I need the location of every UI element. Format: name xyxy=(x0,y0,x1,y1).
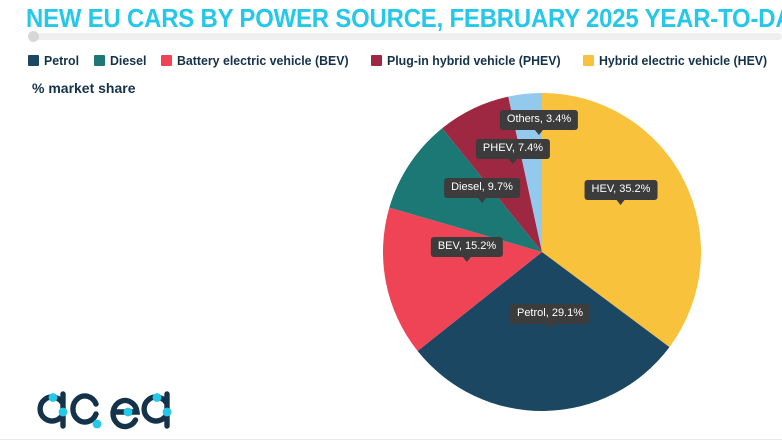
pie-chart: HEV, 35.2% Petrol, 29.1% BEV, 15.2% Dies… xyxy=(382,92,702,412)
legend-label-phev: Plug-in hybrid vehicle (PHEV) xyxy=(387,53,561,68)
acea-logo-svg xyxy=(33,382,183,434)
legend-swatch-diesel xyxy=(94,55,105,66)
legend-item-petrol[interactable]: Petrol xyxy=(28,53,81,68)
legend-swatch-petrol xyxy=(28,55,39,66)
pie-label-petrol: Petrol, 29.1% xyxy=(510,304,590,324)
pie-label-bev: BEV, 15.2% xyxy=(431,237,503,257)
pie-label-diesel: Diesel, 9.7% xyxy=(444,178,520,198)
legend-item-diesel[interactable]: Diesel xyxy=(94,53,148,68)
legend-item-hev[interactable]: Hybrid electric vehicle (HEV) xyxy=(583,53,776,68)
pie-label-phev: PHEV, 7.4% xyxy=(476,139,550,159)
chart-legend: Petrol Diesel Battery electric vehicle (… xyxy=(28,53,782,68)
pie-label-others: Others, 3.4% xyxy=(500,110,578,130)
legend-label-bev: Battery electric vehicle (BEV) xyxy=(177,53,349,68)
legend-label-petrol: Petrol xyxy=(44,53,79,68)
legend-swatch-phev xyxy=(371,55,382,66)
legend-item-phev[interactable]: Plug-in hybrid vehicle (PHEV) xyxy=(371,53,570,68)
page-title: NEW EU CARS BY POWER SOURCE, FEBRUARY 20… xyxy=(26,2,782,34)
legend-label-diesel: Diesel xyxy=(110,53,146,68)
legend-item-bev[interactable]: Battery electric vehicle (BEV) xyxy=(161,53,358,68)
legend-swatch-hev xyxy=(583,55,594,66)
axis-unit-caption: % market share xyxy=(32,80,136,96)
pie-label-hev: HEV, 35.2% xyxy=(585,180,658,200)
legend-label-hev: Hybrid electric vehicle (HEV) xyxy=(599,53,767,68)
chart-page: NEW EU CARS BY POWER SOURCE, FEBRUARY 20… xyxy=(0,0,782,440)
progress-knob[interactable] xyxy=(28,31,39,42)
progress-track[interactable] xyxy=(28,33,782,40)
legend-swatch-bev xyxy=(161,55,172,66)
acea-logo[interactable] xyxy=(33,382,183,434)
